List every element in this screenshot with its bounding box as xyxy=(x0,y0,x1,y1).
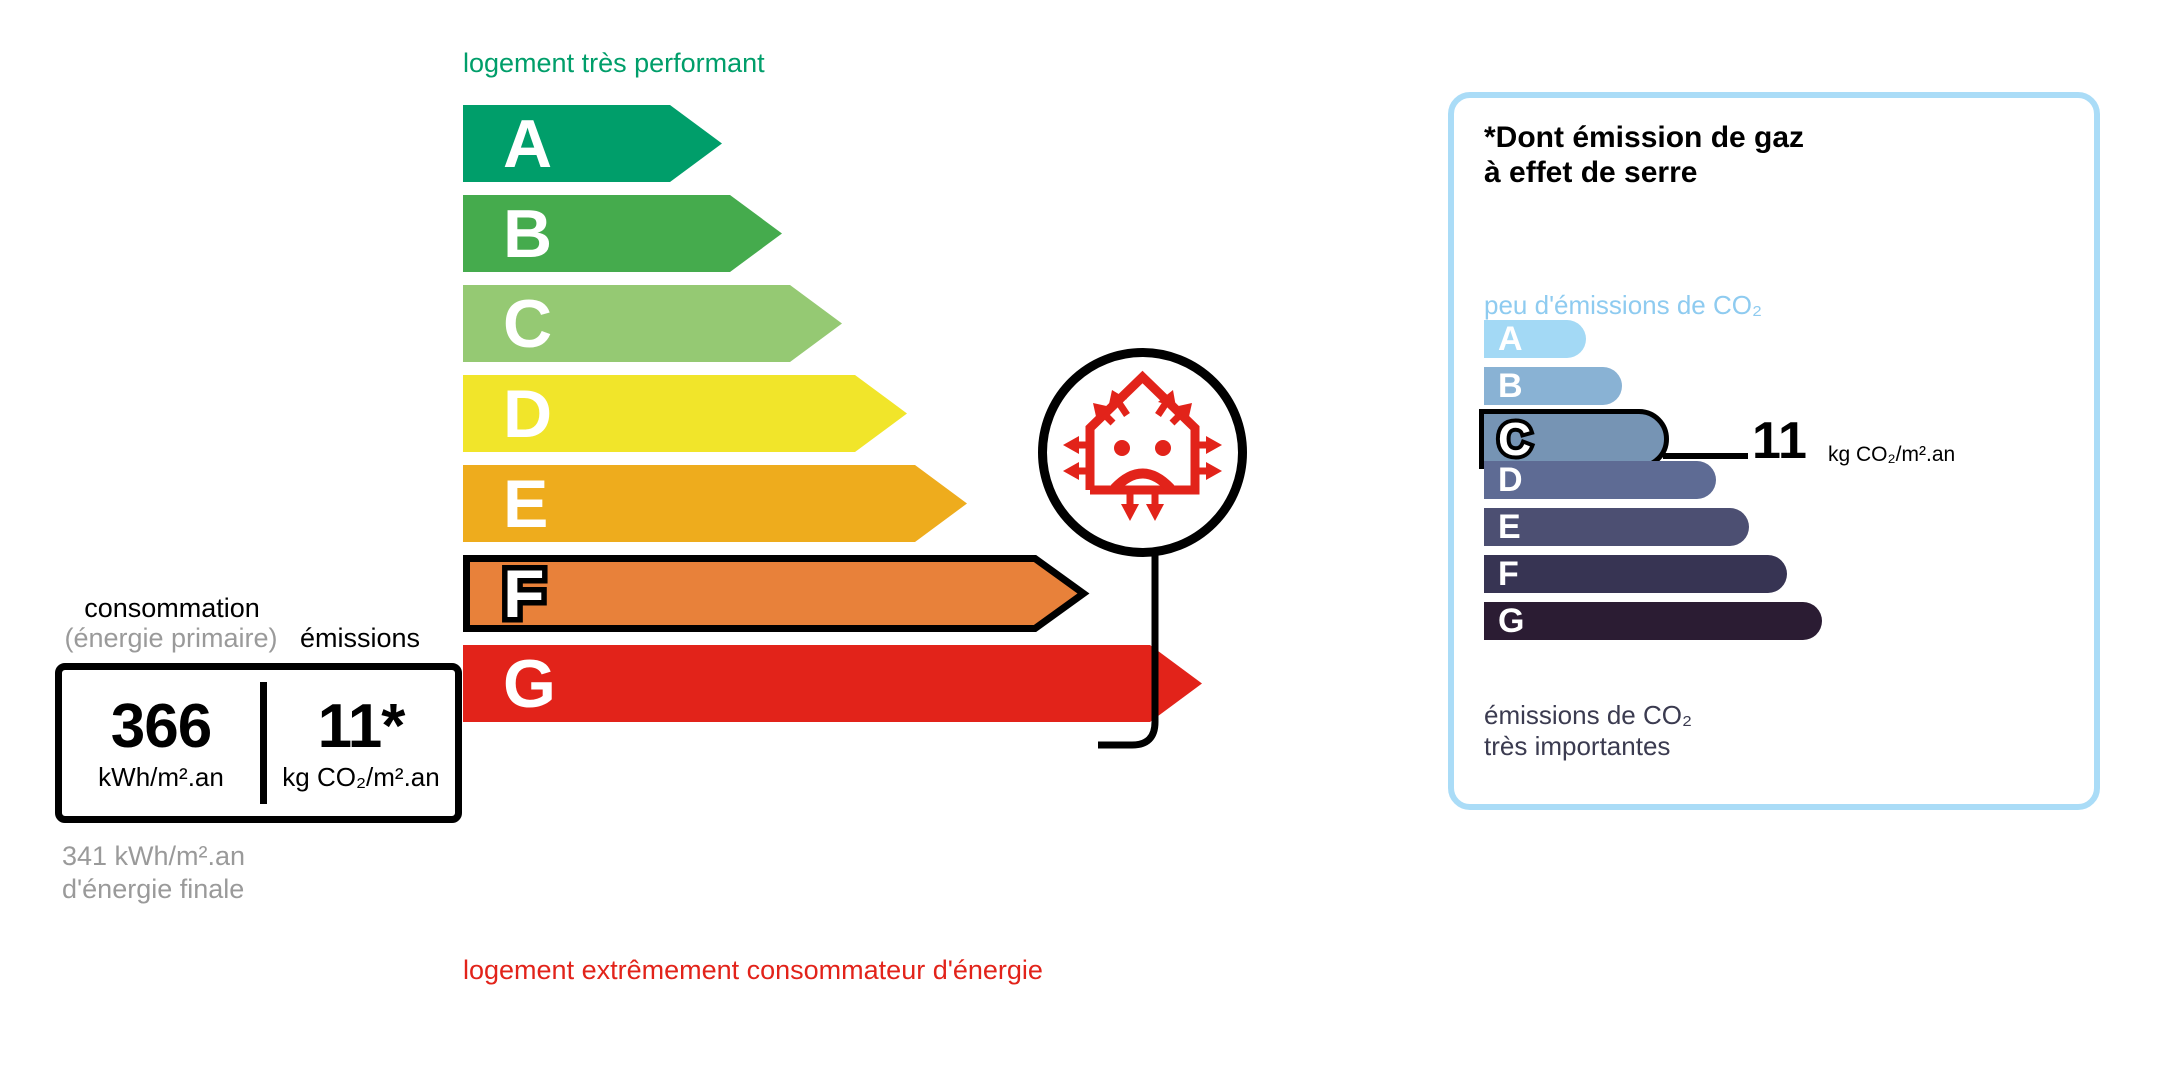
co2-bar-g[interactable]: G xyxy=(1484,602,1822,640)
co2-bar-a[interactable]: A xyxy=(1484,320,1586,358)
co2-bar-letter-a: A xyxy=(1498,322,1523,356)
energy-bar-letter-f: FF xyxy=(503,560,545,628)
co2-bar-letter-g: G xyxy=(1498,604,1524,638)
sad-house-heat-loss-icon xyxy=(1035,345,1250,560)
co2-bar-f[interactable]: F xyxy=(1484,555,1787,593)
energy-bar-shape-e xyxy=(463,465,967,542)
energy-bar-d[interactable]: D xyxy=(463,375,907,452)
primary-energy-value: 366 xyxy=(111,696,211,758)
energy-bar-shape-c xyxy=(463,285,842,362)
box-divider xyxy=(260,682,267,804)
co2-title-line2: à effet de serre xyxy=(1484,155,1804,190)
co2-bar-letter-b: B xyxy=(1498,369,1523,403)
emission-value: 11* xyxy=(318,696,405,758)
energy-bar-b[interactable]: B xyxy=(463,195,782,272)
primary-energy-cell: 366 kWh/m².an xyxy=(62,670,260,816)
energy-letter-fill: F xyxy=(503,556,545,632)
final-energy-note: 341 kWh/m².an d'énergie finale xyxy=(62,840,245,906)
emission-unit: kg CO₂/m².an xyxy=(282,764,439,790)
co2-bar-letter-e: E xyxy=(1498,510,1521,544)
co2-bar-letter-f: F xyxy=(1498,557,1519,591)
label-consommation: consommation xyxy=(62,593,282,624)
energy-performance-scale: logement très performant ABCDEFFG logeme… xyxy=(0,0,1440,1079)
energy-bar-f[interactable]: FF xyxy=(463,555,1087,632)
co2-title-line1: *Dont émission de gaz xyxy=(1484,120,1804,155)
co2-caption-bottom-line1: émissions de CO₂ xyxy=(1484,700,1692,731)
final-energy-line1: 341 kWh/m².an xyxy=(62,840,245,873)
co2-bar-c[interactable]: CC xyxy=(1479,409,1669,469)
energy-bar-c[interactable]: C xyxy=(463,285,842,362)
energy-bottom-caption: logement extrêmement consommateur d'éner… xyxy=(463,955,1043,986)
energy-bar-shape-d xyxy=(463,375,907,452)
energy-bar-shape-a xyxy=(463,105,722,182)
co2-caption-bottom-line2: très importantes xyxy=(1484,731,1692,762)
co2-value-unit: kg CO₂/m².an xyxy=(1828,444,1955,465)
co2-caption-bottom: émissions de CO₂ très importantes xyxy=(1484,700,1692,761)
co2-bar-letter-d: D xyxy=(1498,463,1523,497)
co2-letter-fill: C xyxy=(1498,413,1531,465)
energy-bar-shape-f xyxy=(463,555,1087,632)
final-energy-line2: d'énergie finale xyxy=(62,873,245,906)
emission-cell: 11* kg CO₂/m².an xyxy=(267,670,455,816)
energy-bar-e[interactable]: E xyxy=(463,465,967,542)
primary-energy-unit: kWh/m².an xyxy=(98,764,224,790)
co2-bar-b[interactable]: B xyxy=(1484,367,1622,405)
co2-bar-letter-c: CC xyxy=(1498,416,1531,462)
co2-panel-title: *Dont émission de gaz à effet de serre xyxy=(1484,120,1804,191)
label-emissions: émissions xyxy=(300,623,420,654)
consumption-values-box: 366 kWh/m².an 11* kg CO₂/m².an xyxy=(55,663,462,823)
co2-bar-d[interactable]: D xyxy=(1484,461,1716,499)
energy-top-caption: logement très performant xyxy=(463,48,765,79)
co2-value: 11 xyxy=(1752,415,1807,467)
label-energie-primaire: (énergie primaire) xyxy=(46,623,296,654)
co2-caption-top: peu d'émissions de CO₂ xyxy=(1484,290,1762,321)
dpe-diagram: logement très performant ABCDEFFG logeme… xyxy=(0,0,2169,1079)
co2-leader-line xyxy=(1663,453,1748,459)
co2-bar-e[interactable]: E xyxy=(1484,508,1749,546)
energy-bar-shape-b xyxy=(463,195,782,272)
energy-bar-a[interactable]: A xyxy=(463,105,722,182)
